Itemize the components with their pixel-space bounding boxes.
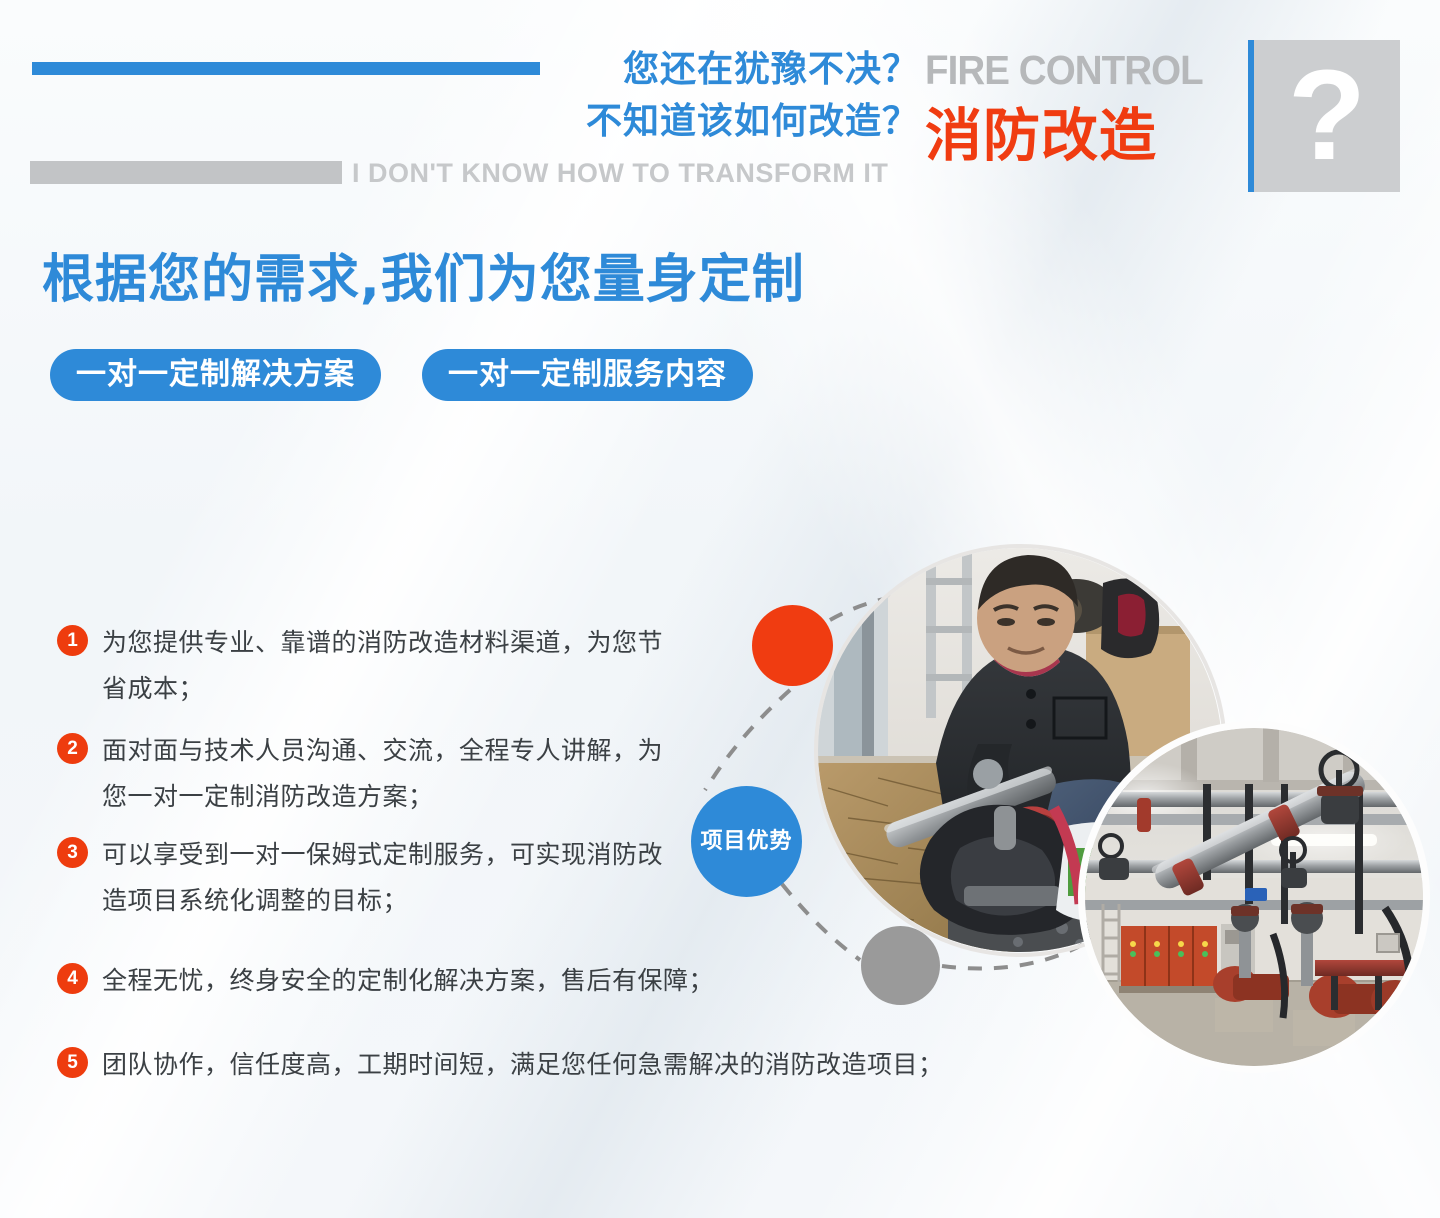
orange-dot-icon bbox=[752, 605, 833, 686]
poster-page: 您还在犹豫不决？ 不知道该如何改造？ I DON'T KNOW HOW TO T… bbox=[0, 0, 1440, 1218]
project-advantage-badge: 项目优势 bbox=[691, 786, 802, 897]
gray-dot-icon bbox=[861, 926, 940, 1005]
fire-pump-room-photo bbox=[1085, 728, 1423, 1066]
